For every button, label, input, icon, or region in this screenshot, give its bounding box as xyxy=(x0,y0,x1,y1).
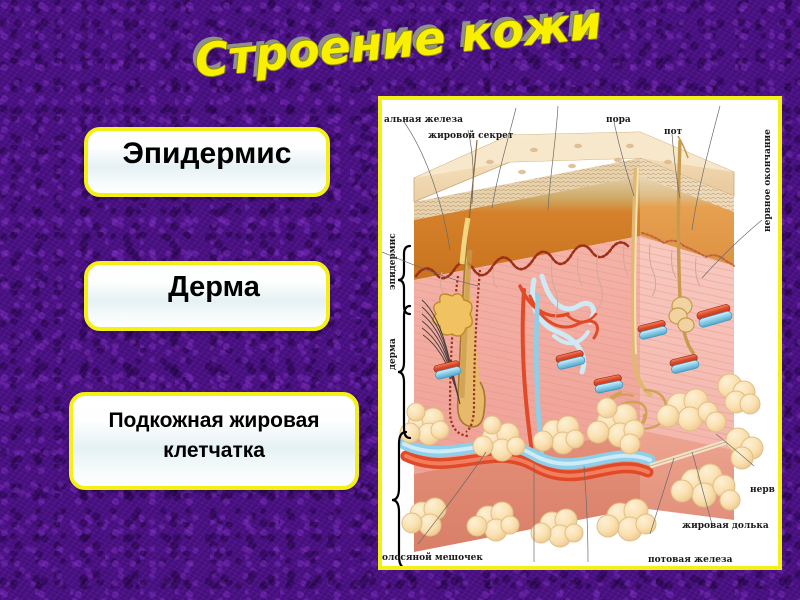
skin-cross-section-diagram[interactable]: эпидермис дерма нервное окончание альная… xyxy=(378,96,782,570)
caption-label-hypodermis: Подкожная жировая клетчатка xyxy=(108,396,319,467)
caption-label-epidermis: Эпидермис xyxy=(123,131,292,171)
caption-box-hypodermis[interactable]: Подкожная жировая клетчатка xyxy=(69,392,359,490)
caption-box-epidermis[interactable]: Эпидермис xyxy=(84,127,330,197)
diagram-label-sweat-gland: потовая железа xyxy=(648,555,733,565)
skin-diagram-svg: эпидермис дерма нервное окончание альная… xyxy=(382,100,778,566)
diagram-label-hair-follicle: олосяной мешочек xyxy=(382,552,483,563)
diagram-label-sebaceous-gland: альная железа xyxy=(384,115,463,125)
caption-label-derma: Дерма xyxy=(154,265,260,303)
diagram-label-nerve: нерв xyxy=(750,485,775,495)
caption-box-derma[interactable]: Дерма xyxy=(84,261,330,331)
diagram-label-sweat: пот xyxy=(664,127,683,137)
diagram-label-fat-lobule: жировая долька xyxy=(682,521,769,531)
diagram-label-derma-layer: дерма xyxy=(388,338,398,370)
diagram-label-epidermis-layer: эпидермис xyxy=(388,233,398,290)
diagram-label-nerve-ending: нервное окончание xyxy=(763,129,773,232)
caption-label-hypodermis-line1: Подкожная жировая xyxy=(108,409,319,432)
diagram-label-pore: пора xyxy=(606,115,631,125)
caption-label-hypodermis-line2: клетчатка xyxy=(163,439,265,462)
diagram-label-sebum: жировой секрет xyxy=(428,130,514,141)
